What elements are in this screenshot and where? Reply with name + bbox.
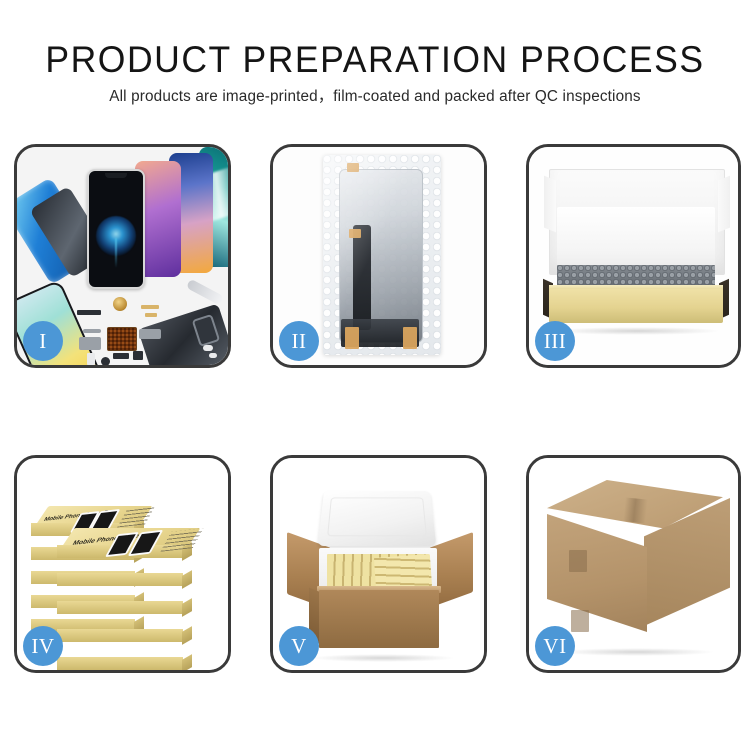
step-badge-3: III	[535, 321, 575, 361]
step-badge-2: II	[279, 321, 319, 361]
part-graphic	[141, 305, 159, 309]
part-graphic	[87, 353, 95, 365]
foam-pad-graphic	[557, 207, 715, 269]
step-panel-5[interactable]: V	[270, 455, 487, 673]
step-badge-5: V	[279, 626, 319, 666]
screw-graphic	[209, 353, 217, 358]
step-panel-2[interactable]: II	[270, 144, 487, 368]
screw-graphic	[203, 345, 213, 351]
sealed-carton-graphic	[539, 480, 733, 648]
chip-grid-graphic	[107, 327, 137, 351]
part-graphic	[113, 353, 129, 359]
phone-glass-front-graphic	[87, 169, 145, 289]
part-graphic	[145, 313, 157, 317]
carton-tape-patch	[571, 610, 589, 632]
step-panel-4[interactable]: Mobile Phone Spare Parts Mobile Phone Sp…	[14, 455, 231, 673]
part-graphic	[133, 351, 143, 360]
open-yellow-box-graphic	[543, 169, 729, 327]
step-badge-6: VI	[535, 626, 575, 666]
part-graphic	[101, 357, 110, 365]
bubble-wrap-bag-graphic	[323, 155, 441, 355]
step-panel-6[interactable]: VI	[526, 455, 741, 673]
flex-cable-graphic	[83, 329, 101, 333]
carton-body	[319, 590, 439, 648]
packed-boxes-graphic	[374, 554, 432, 590]
flex-cable-graphic	[79, 337, 101, 350]
carton-tape-patch	[569, 550, 587, 572]
process-step-grid: I II	[0, 0, 750, 750]
part-graphic	[77, 310, 101, 315]
step-badge-4: IV	[23, 626, 63, 666]
open-carton-graphic	[287, 486, 473, 652]
step-panel-3[interactable]: III	[526, 144, 741, 368]
speaker-part-graphic	[113, 297, 127, 311]
step-badge-1: I	[23, 321, 63, 361]
step-panel-1[interactable]: I	[14, 144, 231, 368]
foam-lid-graphic	[318, 491, 437, 546]
flex-cable-graphic	[139, 329, 161, 339]
